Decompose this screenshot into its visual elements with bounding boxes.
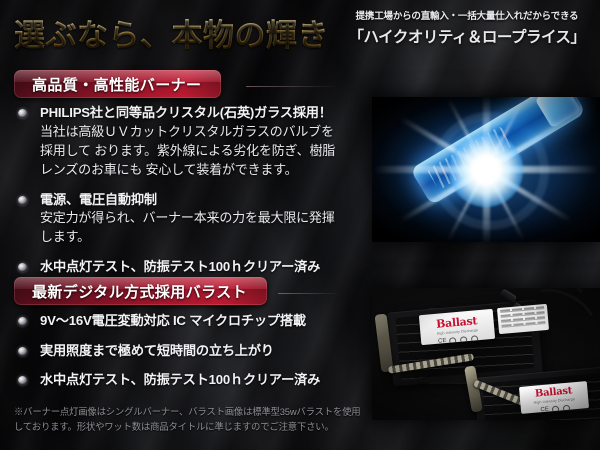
badge-tail-line	[278, 293, 340, 294]
list-item: 電源、電圧自動抑制 安定力が得られ、バーナー本来の力を最大限に発揮します。	[14, 191, 344, 248]
bullet-detail: 安定力が得られ、バーナー本来の力を最大限に発揮します。	[40, 209, 344, 247]
bullet-list-burner: PHILIPS社と同等品クリスタル(石英)ガラス採用！ 当社は高級ＵＶカットクリ…	[14, 104, 344, 288]
list-item: 実用照度まで極めて短時間の立ち上がり	[14, 342, 344, 361]
tagline-small: 提携工場からの直輸入・一括大量仕入れだからできる	[342, 8, 592, 22]
disclaimer-note: ※バーナー点灯画像はシングルバーナー、バラスト画像は標準型35wバラストを使用 …	[14, 404, 354, 434]
section-badge-ballast: 最新デジタル方式採用バラスト	[14, 277, 267, 305]
ballast-label: Ballast High Intensity Discharge CE	[419, 309, 495, 345]
list-item: 水中点灯テスト、防振テスト100ｈクリアー済み	[14, 258, 344, 277]
bullet-detail: 当社は高級ＵＶカットクリスタルガラスのバルブを採用して おります。紫外線による劣…	[40, 123, 344, 180]
gem-bullet-icon	[18, 263, 27, 272]
bullet-list-ballast: 9V〜16V電圧変動対応 IC マイクロチップ搭載 実用照度まで極めて短時間の立…	[14, 312, 344, 401]
advertisement-banner: 選ぶなら、本物の輝き 提携工場からの直輸入・一括大量仕入れだからできる 「ハイク…	[0, 0, 600, 450]
bullet-title: 水中点灯テスト、防振テスト100ｈクリアー済み	[40, 259, 320, 274]
gem-bullet-icon	[18, 347, 27, 356]
gem-bullet-icon	[18, 376, 27, 385]
bullet-title: PHILIPS社と同等品クリスタル(石英)ガラス採用！	[40, 105, 332, 120]
badge-tail-line	[246, 86, 338, 87]
tagline: 提携工場からの直輸入・一括大量仕入れだからできる 「ハイクオリティ＆ロープライス…	[342, 8, 592, 47]
tagline-big: 「ハイクオリティ＆ロープライス」	[342, 25, 592, 47]
bullet-title: 電源、電圧自動抑制	[40, 192, 157, 207]
bullet-title: 実用照度まで極めて短時間の立ち上がり	[40, 343, 274, 358]
page-title: 選ぶなら、本物の輝き	[14, 6, 354, 58]
gem-bullet-icon	[18, 317, 27, 326]
disclaimer-line-2: しております。形状やワット数は商品タイトルに準じますのでご注意下さい。	[14, 419, 354, 434]
gem-bullet-icon	[18, 109, 27, 118]
disclaimer-line-1: ※バーナー点灯画像はシングルバーナー、バラスト画像は標準型35wバラストを使用	[14, 404, 354, 419]
ballast-product-photo: B Ballast High Intensity Discharge CE	[372, 288, 600, 420]
section-badge-burner: 高品質・高性能バーナー	[14, 70, 221, 98]
bullet-title: 水中点灯テスト、防振テスト100ｈクリアー済み	[40, 372, 320, 387]
light-flare-core	[449, 133, 523, 207]
list-item: PHILIPS社と同等品クリスタル(石英)ガラス採用！ 当社は高級ＵＶカットクリ…	[14, 104, 344, 180]
gem-bullet-icon	[18, 196, 27, 205]
bullet-title: 9V〜16V電圧変動対応 IC マイクロチップ搭載	[40, 313, 306, 328]
list-item: 水中点灯テスト、防振テスト100ｈクリアー済み	[14, 371, 344, 390]
list-item: 9V〜16V電圧変動対応 IC マイクロチップ搭載	[14, 312, 344, 331]
spec-sticker	[497, 304, 549, 334]
burner-product-photo	[372, 97, 600, 242]
